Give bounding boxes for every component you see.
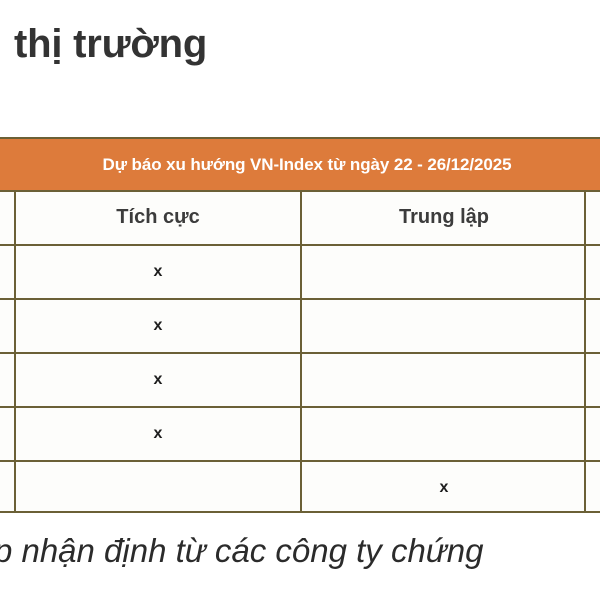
check-mark: x — [440, 479, 449, 497]
check-mark: x — [154, 263, 163, 281]
check-mark: x — [154, 317, 163, 335]
cell-tich-cuc[interactable]: x — [14, 300, 302, 352]
table-rule — [14, 190, 16, 513]
header-cell-stub — [0, 190, 14, 244]
row-stub-cell — [0, 300, 14, 352]
check-mark: x — [154, 425, 163, 443]
row-stub-cell — [0, 354, 14, 406]
row-right-stub-cell — [586, 354, 600, 406]
table-rule — [300, 190, 302, 513]
table-grid: Tích cực Trung lập x x — [0, 190, 600, 513]
column-header-label: Trung lập — [399, 206, 489, 229]
table-rule — [584, 190, 586, 513]
cell-trung-lap[interactable] — [302, 354, 586, 406]
header-cell-trung-lap: Trung lập — [302, 190, 586, 244]
cell-trung-lap[interactable] — [302, 246, 586, 298]
header-cell-tich-cuc: Tích cực — [14, 190, 302, 244]
cell-tich-cuc[interactable]: x — [14, 408, 302, 460]
cell-trung-lap[interactable] — [302, 300, 586, 352]
row-stub-cell — [0, 462, 14, 513]
cell-tich-cuc[interactable]: x — [14, 354, 302, 406]
table-title-bar: Dự báo xu hướng VN-Index từ ngày 22 - 26… — [0, 137, 600, 190]
table-title: Dự báo xu hướng VN-Index từ ngày 22 - 26… — [0, 139, 600, 190]
row-stub-cell — [0, 408, 14, 460]
row-right-stub-cell — [586, 300, 600, 352]
check-mark: x — [154, 371, 163, 389]
figure-caption: ợp nhận định từ các công ty chứng — [0, 528, 600, 574]
header-cell-right-stub — [586, 190, 600, 244]
page-title: thị trường — [14, 14, 594, 74]
row-right-stub-cell — [586, 408, 600, 460]
row-right-stub-cell — [586, 246, 600, 298]
cell-tich-cuc[interactable]: x — [14, 246, 302, 298]
row-stub-cell — [0, 246, 14, 298]
column-header-label: Tích cực — [116, 206, 199, 229]
cell-trung-lap[interactable]: x — [302, 462, 586, 513]
cell-tich-cuc[interactable] — [14, 462, 302, 513]
forecast-table: Dự báo xu hướng VN-Index từ ngày 22 - 26… — [0, 137, 600, 513]
cell-trung-lap[interactable] — [302, 408, 586, 460]
row-right-stub-cell — [586, 462, 600, 513]
